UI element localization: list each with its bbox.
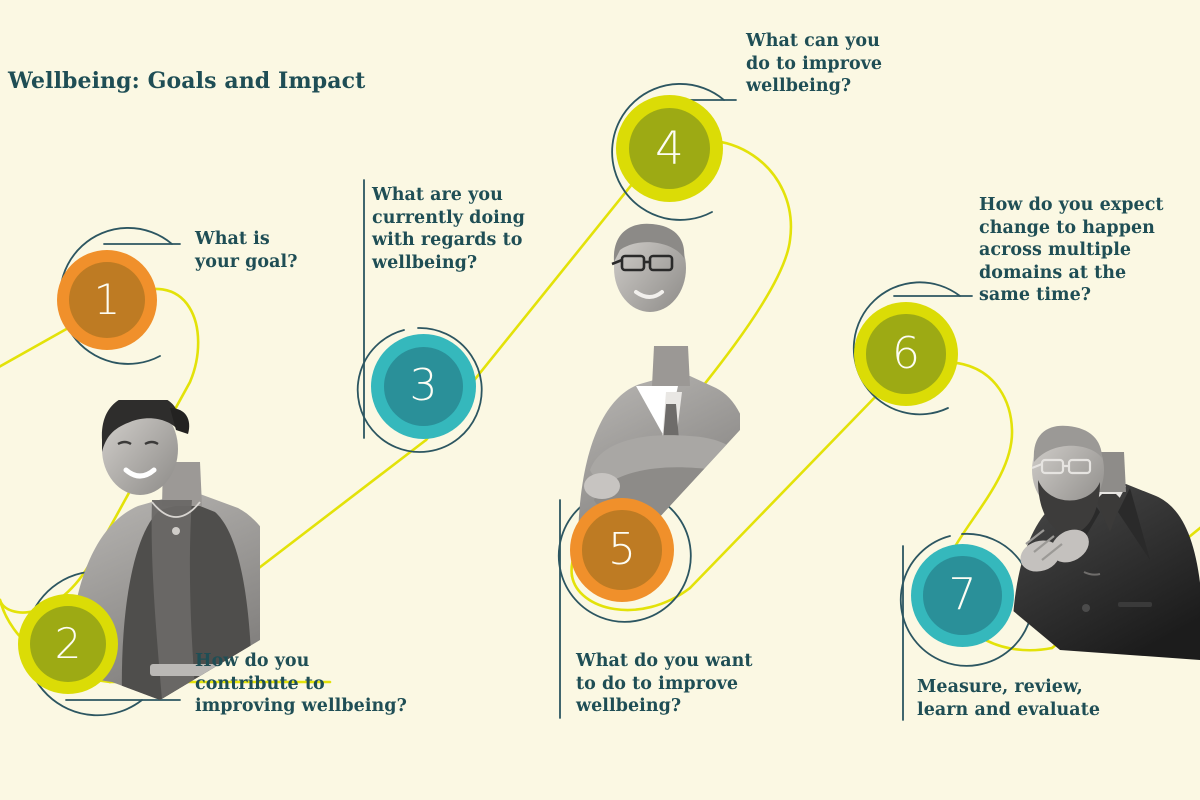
step-label-5: What do you want to do to improve wellbe…	[576, 650, 836, 718]
step-label-1: What is your goal?	[195, 228, 395, 273]
step-label-2: How do you contribute to improving wellb…	[195, 650, 495, 718]
step-label-7: Measure, review, learn and evaluate	[917, 676, 1177, 721]
step-label-4: What can you do to improve wellbeing?	[746, 30, 966, 98]
text-layer: Wellbeing: Goals and Impact What is your…	[0, 0, 1200, 800]
page-title: Wellbeing: Goals and Impact	[8, 68, 365, 94]
infographic-canvas: 1 2 3 4 5 6	[0, 0, 1200, 800]
step-label-6: How do you expect change to happen acros…	[979, 194, 1189, 307]
step-label-3: What are you currently doing with regard…	[372, 184, 612, 274]
